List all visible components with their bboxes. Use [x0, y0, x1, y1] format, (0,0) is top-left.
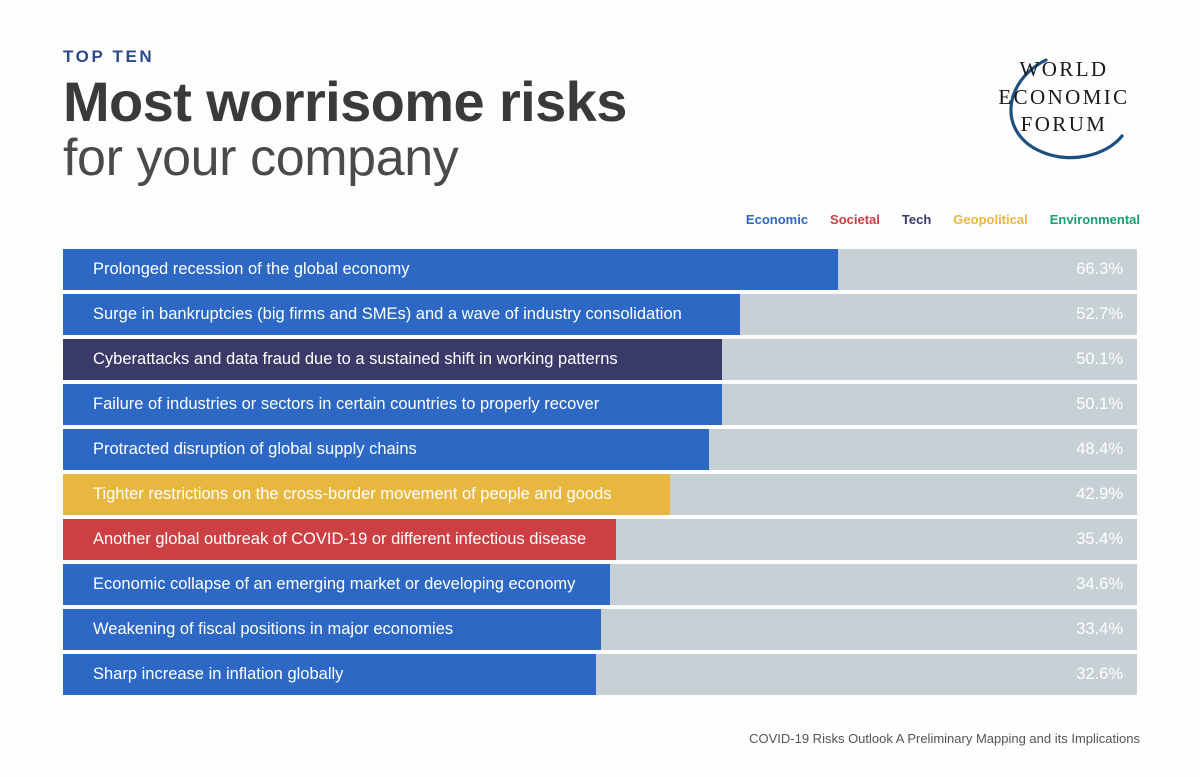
logo-line-forum: FORUM	[984, 111, 1144, 139]
bar-value: 35.4%	[1076, 519, 1123, 560]
legend-item-tech: Tech	[902, 212, 931, 227]
bar-label: Prolonged recession of the global econom…	[93, 249, 409, 290]
bar-label: Economic collapse of an emerging market …	[93, 564, 575, 605]
eyebrow-label: TOP TEN	[63, 48, 763, 67]
bar-label: Surge in bankruptcies (big firms and SME…	[93, 294, 682, 335]
bar-value: 66.3%	[1076, 249, 1123, 290]
bar-label: Cyberattacks and data fraud due to a sus…	[93, 339, 618, 380]
bar-label: Another global outbreak of COVID-19 or d…	[93, 519, 586, 560]
bar-value: 42.9%	[1076, 474, 1123, 515]
chart-row[interactable]: Cyberattacks and data fraud due to a sus…	[63, 339, 1137, 380]
chart-row[interactable]: Tighter restrictions on the cross-border…	[63, 474, 1137, 515]
chart-row[interactable]: Surge in bankruptcies (big firms and SME…	[63, 294, 1137, 335]
wef-logo: WORLD ECONOMIC FORUM	[984, 52, 1144, 170]
chart-row[interactable]: Failure of industries or sectors in cert…	[63, 384, 1137, 425]
bar-label: Sharp increase in inflation globally	[93, 654, 343, 695]
source-caption: COVID-19 Risks Outlook A Preliminary Map…	[749, 731, 1140, 746]
bar-value: 32.6%	[1076, 654, 1123, 695]
legend-item-geopolitical: Geopolitical	[953, 212, 1027, 227]
logo-line-world: WORLD	[984, 56, 1144, 84]
page-header: TOP TEN Most worrisome risks for your co…	[63, 48, 763, 186]
page-title: Most worrisome risks	[63, 73, 763, 130]
logo-wordmark: WORLD ECONOMIC FORUM	[984, 56, 1144, 139]
risk-bar-chart: Prolonged recession of the global econom…	[63, 249, 1137, 699]
bar-value: 33.4%	[1076, 609, 1123, 650]
bar-value: 34.6%	[1076, 564, 1123, 605]
bar-label: Weakening of fiscal positions in major e…	[93, 609, 453, 650]
chart-row[interactable]: Another global outbreak of COVID-19 or d…	[63, 519, 1137, 560]
chart-row[interactable]: Protracted disruption of global supply c…	[63, 429, 1137, 470]
legend-item-environmental: Environmental	[1050, 212, 1140, 227]
chart-row[interactable]: Weakening of fiscal positions in major e…	[63, 609, 1137, 650]
bar-value: 50.1%	[1076, 384, 1123, 425]
bar-label: Failure of industries or sectors in cert…	[93, 384, 599, 425]
chart-legend: EconomicSocietalTechGeopoliticalEnvironm…	[746, 212, 1140, 227]
logo-line-economic: ECONOMIC	[984, 84, 1144, 112]
chart-row[interactable]: Sharp increase in inflation globally32.6…	[63, 654, 1137, 695]
legend-item-societal: Societal	[830, 212, 880, 227]
bar-label: Tighter restrictions on the cross-border…	[93, 474, 612, 515]
bar-value: 50.1%	[1076, 339, 1123, 380]
legend-item-economic: Economic	[746, 212, 808, 227]
page-subtitle: for your company	[63, 130, 763, 186]
bar-label: Protracted disruption of global supply c…	[93, 429, 417, 470]
chart-row[interactable]: Economic collapse of an emerging market …	[63, 564, 1137, 605]
chart-row[interactable]: Prolonged recession of the global econom…	[63, 249, 1137, 290]
bar-value: 48.4%	[1076, 429, 1123, 470]
bar-value: 52.7%	[1076, 294, 1123, 335]
